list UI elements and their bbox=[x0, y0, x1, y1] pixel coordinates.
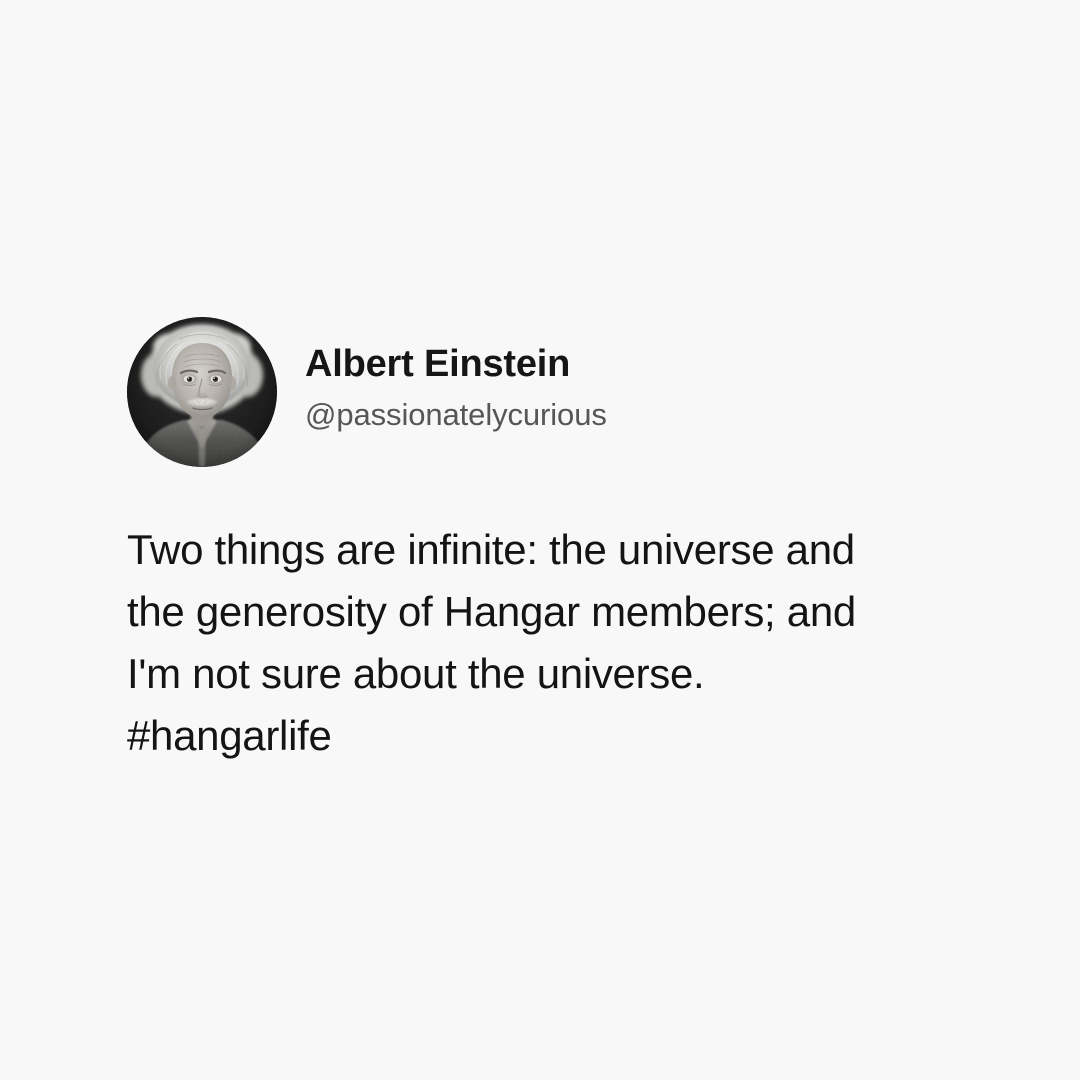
quote-line: I'm not sure about the universe. bbox=[127, 643, 917, 705]
quote-line: Two things are infinite: the universe an… bbox=[127, 519, 917, 581]
quote-card: Albert Einstein @passionatelycurious Two… bbox=[127, 317, 957, 767]
quote-text: Two things are infinite: the universe an… bbox=[127, 519, 917, 767]
author-identity: Albert Einstein @passionatelycurious bbox=[305, 317, 607, 432]
quote-line: the generosity of Hangar members; and bbox=[127, 581, 917, 643]
avatar-portrait-einstein-icon bbox=[127, 317, 277, 467]
author-handle[interactable]: @passionatelycurious bbox=[305, 398, 607, 432]
avatar[interactable] bbox=[127, 317, 277, 467]
post-header: Albert Einstein @passionatelycurious bbox=[127, 317, 957, 467]
author-display-name: Albert Einstein bbox=[305, 344, 607, 385]
quote-line-hashtag[interactable]: #hangarlife bbox=[127, 705, 917, 767]
